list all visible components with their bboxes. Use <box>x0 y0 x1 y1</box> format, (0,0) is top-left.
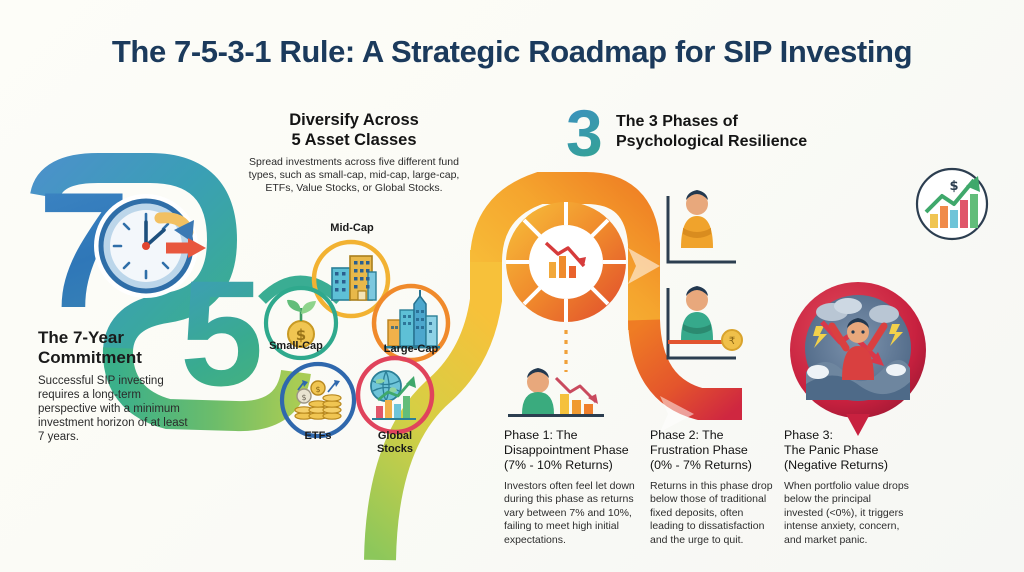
svg-text:$: $ <box>315 385 320 394</box>
phase-2-heading: Phase 2: The Frustration Phase (0% - 7% … <box>650 428 774 473</box>
asset-label-small-cap: Small-Cap <box>250 340 342 353</box>
seven-year-heading-line2: Commitment <box>38 348 188 368</box>
svg-text:$: $ <box>301 393 306 402</box>
phase-1-body: Investors often feel let down during thi… <box>504 480 640 547</box>
phase1-donut-icon <box>506 202 626 322</box>
phase1-person-icon <box>508 368 604 417</box>
phase-1-heading-line2: Disappointment Phase <box>504 443 640 458</box>
seven-year-body: Successful SIP investing requires a long… <box>38 374 188 444</box>
phase-3-heading-line1: Phase 3: <box>784 428 912 443</box>
phase-3-heading: Phase 3: The Panic Phase (Negative Retur… <box>784 428 912 473</box>
asset-label-global-stocks-text: Global Stocks <box>377 430 413 455</box>
seven-year-heading-line1: The 7-Year <box>38 328 188 348</box>
three-phases-heading: The 3 Phases of Psychological Resilience <box>616 112 856 151</box>
infographic-canvas: The 7-5-3-1 Rule: A Strategic Roadmap fo… <box>0 0 1024 572</box>
seven-year-block: The 7-Year Commitment Successful SIP inv… <box>38 328 188 444</box>
phase-3-block: Phase 3: The Panic Phase (Negative Retur… <box>784 428 912 547</box>
phase3-panic-icon <box>790 282 926 436</box>
svg-text:₹: ₹ <box>729 336 735 347</box>
phase-3-heading-line3: (Negative Returns) <box>784 458 912 473</box>
phase2-person-bottom-icon: ₹ <box>668 286 742 358</box>
phase-2-heading-line3: (0% - 7% Returns) <box>650 458 774 473</box>
phase-2-heading-line1: Phase 2: The <box>650 428 774 443</box>
asset-label-mid-cap: Mid-Cap <box>312 222 392 235</box>
globe-growth-icon <box>354 354 436 436</box>
three-phases-block: The 3 Phases of Psychological Resilience <box>616 112 856 151</box>
phase-1-block: Phase 1: The Disappointment Phase (7% - … <box>504 428 640 547</box>
seven-year-heading: The 7-Year Commitment <box>38 328 188 368</box>
phase-1-heading-line1: Phase 1: The <box>504 428 640 443</box>
growth-chart-dollar-icon: $ <box>912 164 992 244</box>
phase-1-heading-line3: (7% - 10% Returns) <box>504 458 640 473</box>
phase-3-heading-line2: The Panic Phase <box>784 443 912 458</box>
diversify-heading-line1: Diversify Across <box>248 110 460 130</box>
asset-label-global-stocks: Global Stocks <box>352 430 438 456</box>
svg-text:$: $ <box>949 179 958 194</box>
diversify-block: Diversify Across 5 Asset Classes Spread … <box>248 110 460 194</box>
phase-1-heading: Phase 1: The Disappointment Phase (7% - … <box>504 428 640 473</box>
phase-2-block: Phase 2: The Frustration Phase (0% - 7% … <box>650 428 774 547</box>
diversify-heading-line2: 5 Asset Classes <box>248 130 460 150</box>
phase-2-body: Returns in this phase drop below those o… <box>650 480 774 547</box>
clock-with-arrows-icon <box>88 186 216 314</box>
diversify-heading: Diversify Across 5 Asset Classes <box>248 110 460 150</box>
phase2-person-top-icon <box>668 190 736 262</box>
phase-2-heading-line2: Frustration Phase <box>650 443 774 458</box>
three-phases-heading-line2: Psychological Resilience <box>616 132 856 152</box>
asset-label-etfs: ETFs <box>282 430 354 443</box>
diversify-body: Spread investments across five different… <box>248 156 460 194</box>
numeral-three: 3 <box>566 100 603 166</box>
three-phases-heading-line1: The 3 Phases of <box>616 112 856 132</box>
coin-stacks-icon: $ $ <box>278 360 358 440</box>
phase-3-body: When portfolio value drops below the pri… <box>784 480 912 547</box>
